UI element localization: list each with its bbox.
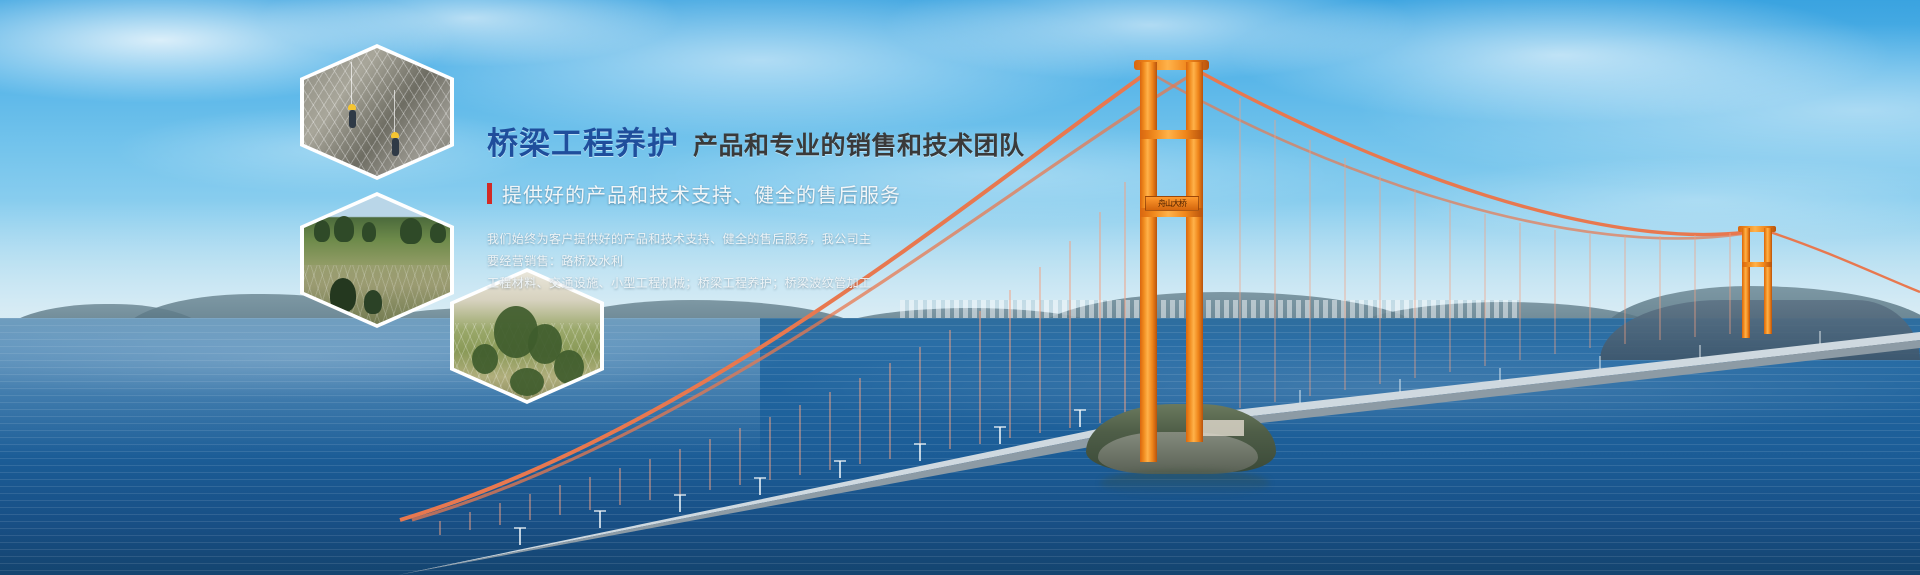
hero-banner: 舟山大桥 [0, 0, 1920, 575]
mesh-overlay [304, 48, 450, 176]
hex-photo-2 [300, 192, 454, 328]
main-tower-right-leg [1186, 62, 1203, 442]
far-tower-right-leg [1764, 228, 1772, 334]
tree-shape [400, 218, 422, 244]
bush-shape [510, 368, 544, 396]
subheadline-text: 提供好的产品和技术支持、健全的售后服务 [502, 179, 901, 208]
body-line-1: 我们始终为客户提供好的产品和技术支持、健全的售后服务，我公司主要经营销售：路桥及… [487, 228, 877, 272]
banner-copy: 桥梁工程养护 产品和专业的销售和技术团队 提供好的产品和技术支持、健全的售后服务… [487, 118, 1047, 294]
bush-shape [472, 344, 498, 374]
far-tower-left-leg [1742, 228, 1750, 338]
safety-rope [394, 90, 395, 134]
worker-figure [349, 110, 356, 128]
hex-photo-2-image [304, 196, 450, 324]
foreground-tree [364, 290, 382, 314]
body-line-2: 工程材料、交通设施、小型工程机械；桥梁工程养护；桥梁波纹管加工 [487, 272, 877, 294]
hex-photo-1 [300, 44, 454, 180]
tree-shape [430, 223, 446, 243]
worker-figure [392, 138, 399, 156]
bush-shape [554, 350, 584, 384]
accent-bar [487, 183, 492, 204]
safety-rope [351, 62, 352, 108]
far-tower-crossbeam [1742, 262, 1772, 267]
headline-secondary: 产品和专业的销售和技术团队 [693, 126, 1025, 162]
headline-row: 桥梁工程养护 产品和专业的销售和技术团队 [487, 118, 1047, 163]
hex-photo-1-image [304, 48, 450, 176]
main-tower-left-leg [1140, 62, 1157, 462]
tree-shape [362, 222, 376, 242]
hillside-photo [304, 196, 450, 324]
tower-sign: 舟山大桥 [1145, 196, 1199, 211]
headline-primary: 桥梁工程养护 [487, 118, 679, 163]
foreground-tree [330, 278, 356, 312]
tree-shape [314, 220, 330, 242]
main-tower-crossbeam-upper [1140, 130, 1203, 139]
subheadline-row: 提供好的产品和技术支持、健全的售后服务 [487, 179, 1047, 208]
body-paragraph: 我们始终为客户提供好的产品和技术支持、健全的售后服务，我公司主要经营销售：路桥及… [487, 228, 877, 294]
tree-shape [334, 216, 354, 242]
